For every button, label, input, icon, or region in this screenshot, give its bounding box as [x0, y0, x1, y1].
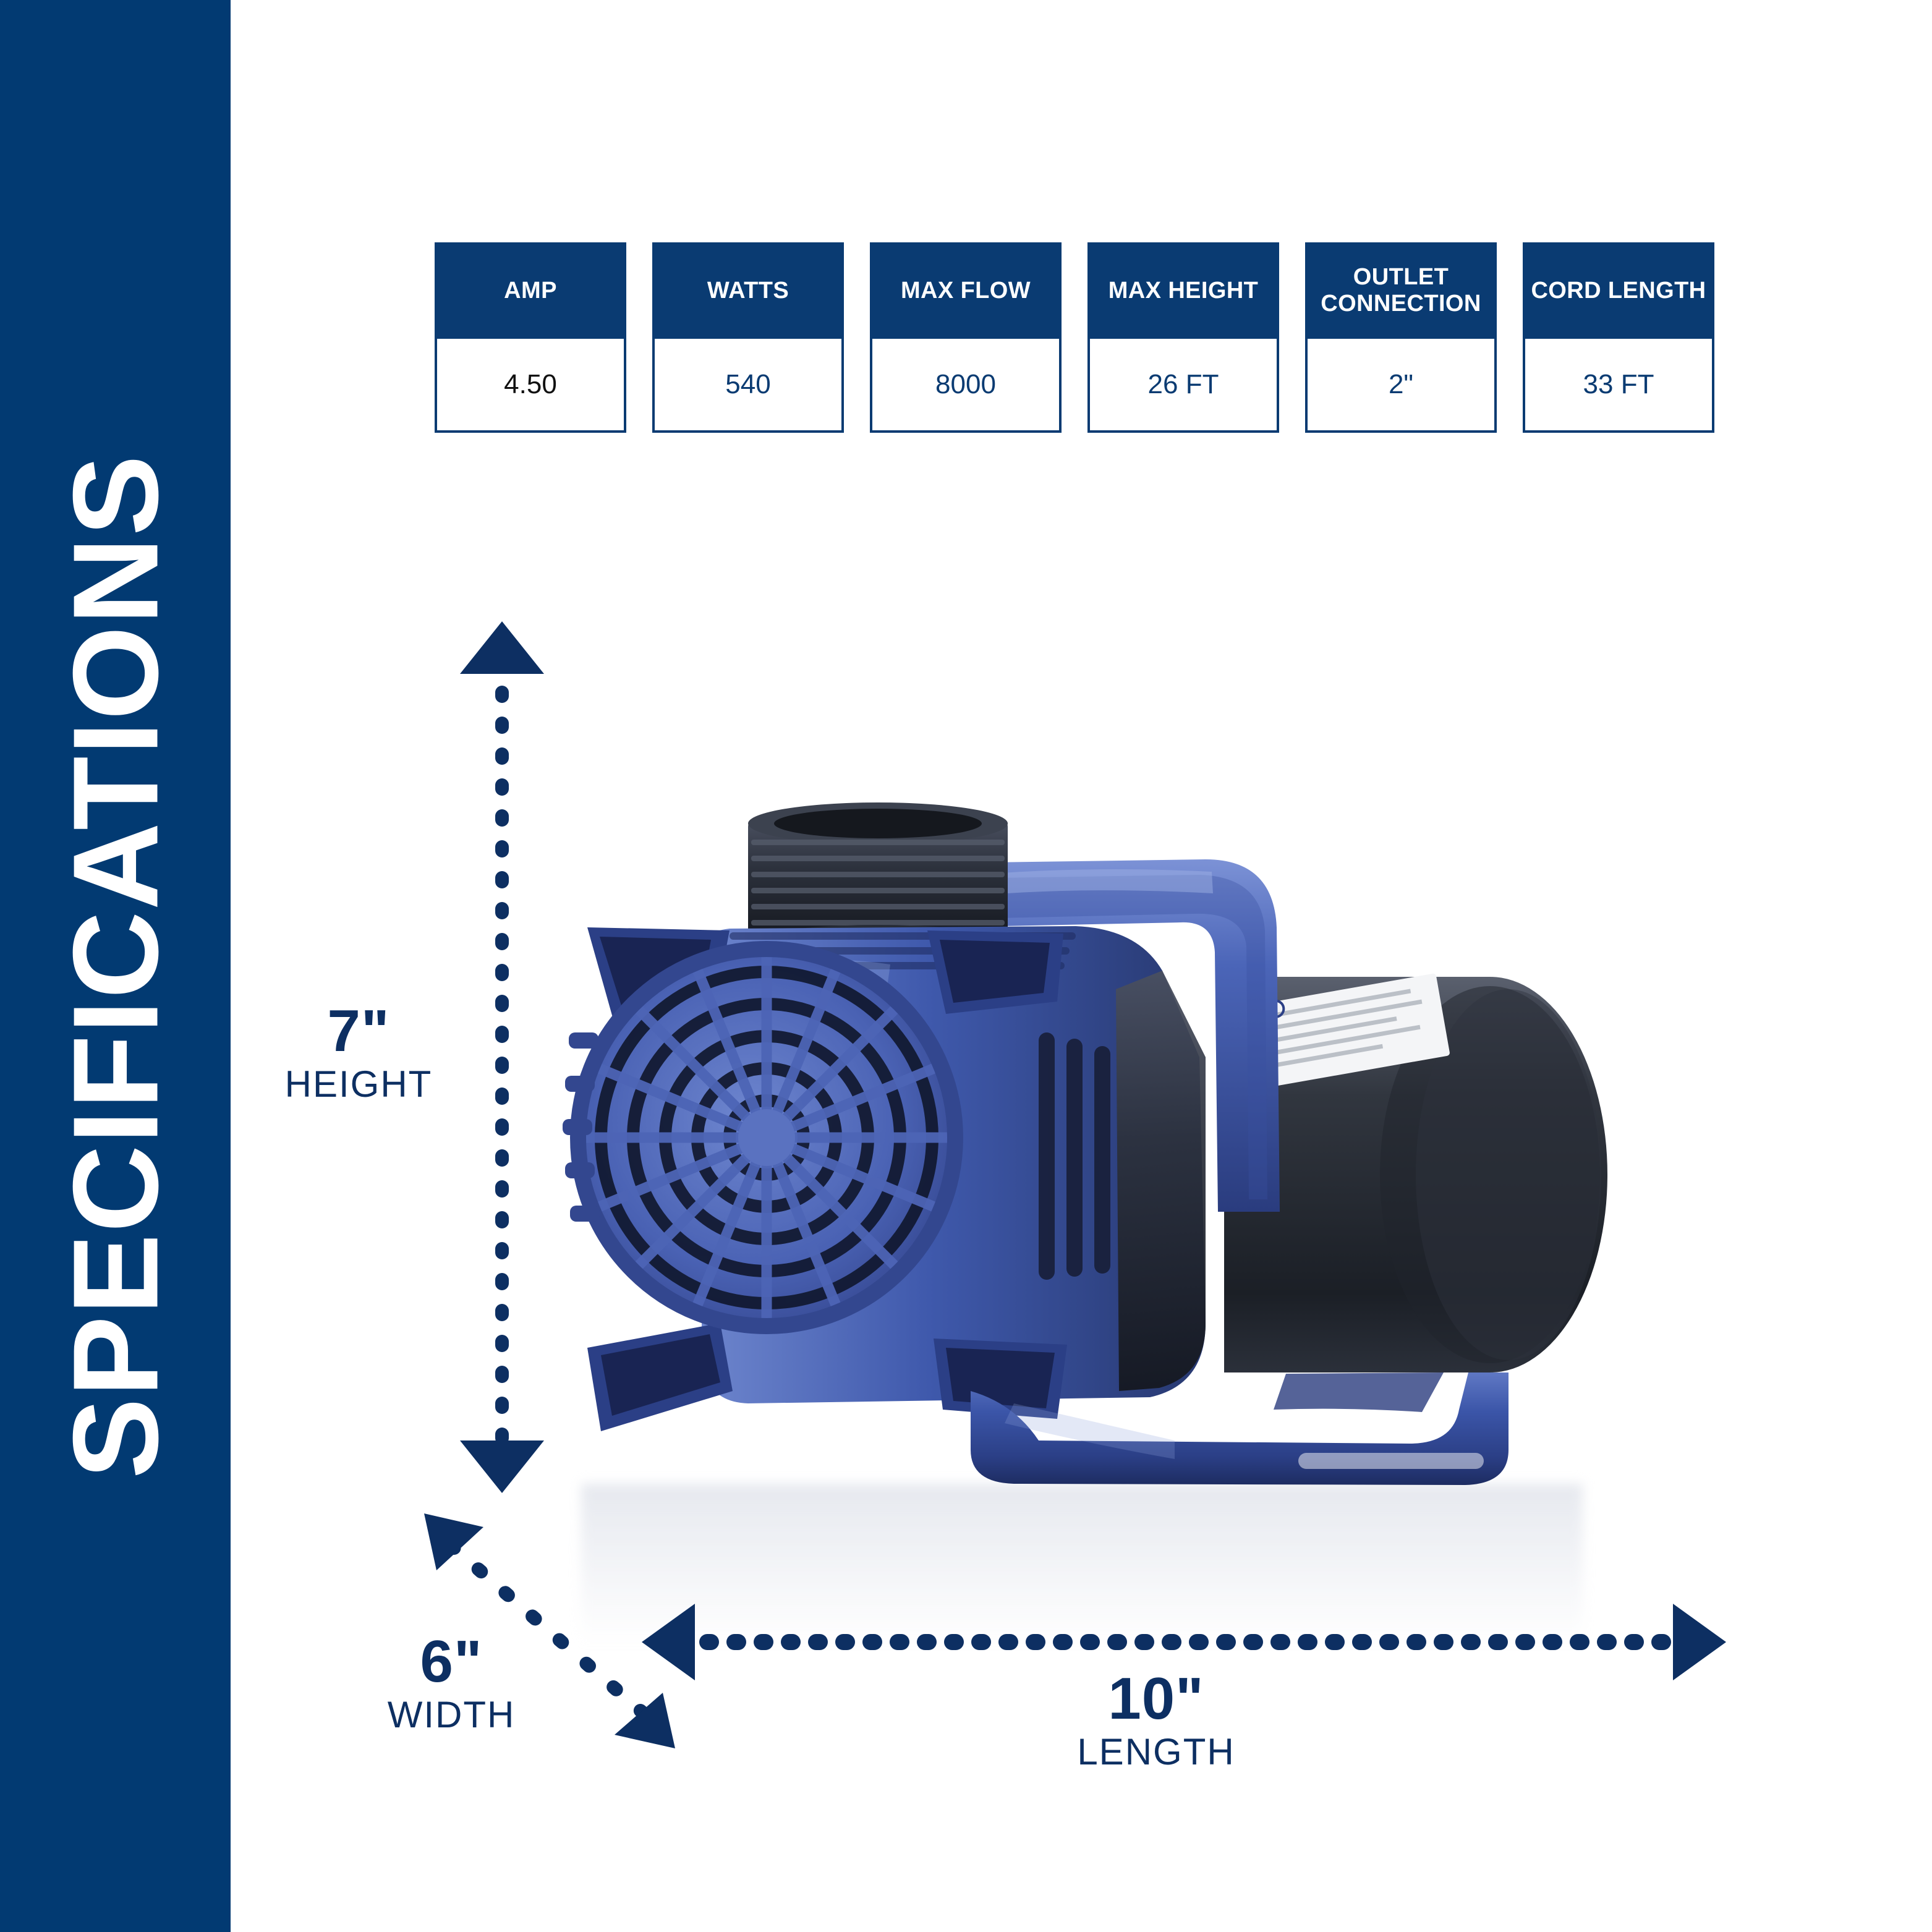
- dimension-value-length: 10": [1026, 1669, 1286, 1729]
- spec-card-max-flow: MAX FLOW 8000: [870, 242, 1062, 433]
- spec-header-cord-length: CORD LENGTH: [1523, 242, 1714, 339]
- spec-value-max-flow: 8000: [870, 339, 1062, 433]
- dimension-value-height: 7": [266, 1002, 451, 1061]
- spec-card-outlet-connection: OUTLET CONNECTION 2": [1305, 242, 1497, 433]
- height-arrow-icon: [460, 621, 544, 1493]
- spec-card-cord-length: CORD LENGTH 33 FT: [1523, 242, 1714, 433]
- spec-card-amp: AMP 4.50: [435, 242, 626, 433]
- sidebar: SPECIFICATIONS: [0, 0, 231, 1932]
- dimension-value-width: 6": [359, 1632, 544, 1692]
- spec-card-watts: WATTS 540: [652, 242, 844, 433]
- dimension-label-height: 7" HEIGHT: [266, 1002, 451, 1107]
- page-title: SPECIFICATIONS: [46, 454, 185, 1479]
- side-vents: [1039, 1032, 1110, 1280]
- spec-header-max-flow: MAX FLOW: [870, 242, 1062, 339]
- spec-value-outlet-connection: 2": [1305, 339, 1497, 433]
- dimension-caption-height: HEIGHT: [266, 1061, 451, 1107]
- dimension-label-length: 10" LENGTH: [1026, 1669, 1286, 1775]
- dimension-caption-length: LENGTH: [1026, 1729, 1286, 1775]
- spec-value-watts: 540: [652, 339, 844, 433]
- spec-header-watts: WATTS: [652, 242, 844, 339]
- spec-value-cord-length: 33 FT: [1523, 339, 1714, 433]
- spec-header-amp: AMP: [435, 242, 626, 339]
- motor-housing: [1224, 972, 1607, 1372]
- spec-header-max-height: MAX HEIGHT: [1087, 242, 1279, 339]
- dimension-label-width: 6" WIDTH: [359, 1632, 544, 1738]
- spec-header-outlet-connection: OUTLET CONNECTION: [1305, 242, 1497, 339]
- spec-value-max-height: 26 FT: [1087, 339, 1279, 433]
- spec-value-amp: 4.50: [435, 339, 626, 433]
- dimension-caption-width: WIDTH: [359, 1692, 544, 1738]
- spec-card-max-height: MAX HEIGHT 26 FT: [1087, 242, 1279, 433]
- product-image-submersible-pump: [544, 767, 1632, 1539]
- specifications-table: AMP 4.50 WATTS 540 MAX FLOW 8000 MAX HEI…: [435, 242, 1733, 440]
